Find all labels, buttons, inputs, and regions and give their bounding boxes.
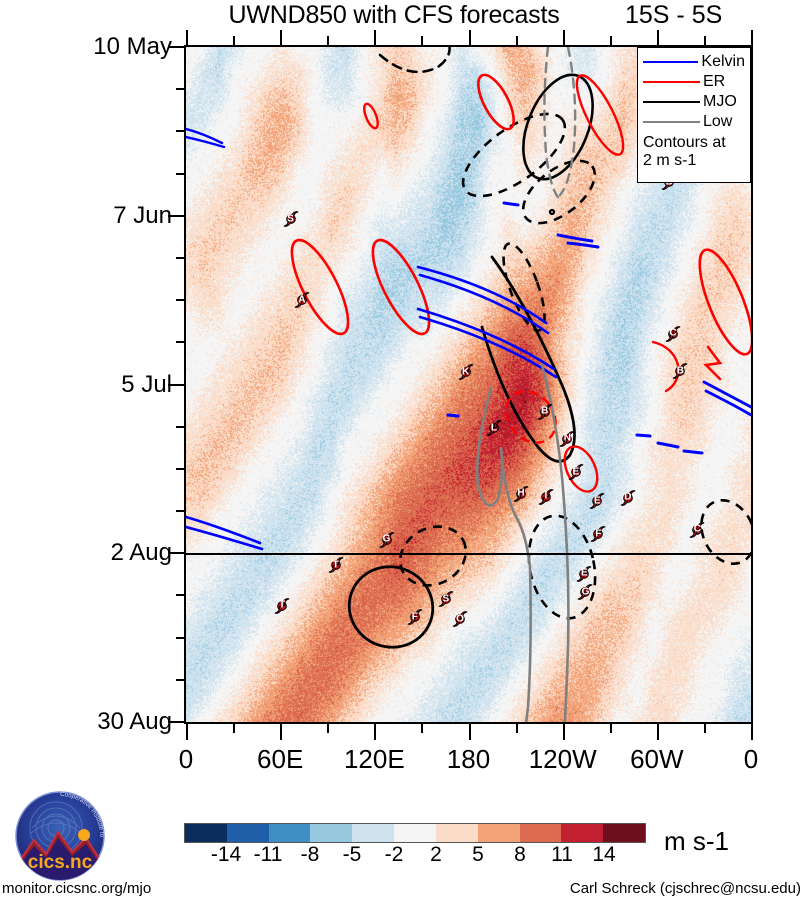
x-axis-major-tick bbox=[563, 30, 565, 45]
tropical-cyclone-marker[interactable]: A bbox=[292, 291, 311, 310]
x-axis-major-tick bbox=[657, 30, 659, 45]
wave-contour-path bbox=[706, 347, 720, 379]
tropical-cyclone-marker[interactable]: L bbox=[484, 419, 503, 438]
x-axis-ticks-top bbox=[184, 30, 753, 45]
wave-contour-ellipse bbox=[568, 70, 631, 160]
kelvin-line-icon bbox=[643, 61, 698, 63]
x-axis-minor-tick bbox=[610, 36, 612, 45]
y-axis-major-tick bbox=[168, 552, 185, 554]
legend-item-er: ER bbox=[643, 72, 745, 92]
tropical-cyclone-label: F bbox=[595, 529, 601, 539]
tropical-cyclone-label: A bbox=[298, 295, 305, 305]
wave-contour-ellipse bbox=[338, 555, 444, 659]
colorbar-swatch bbox=[185, 824, 227, 842]
tropical-cyclone-marker[interactable]: H bbox=[512, 484, 531, 503]
tropical-cyclone-label: D bbox=[624, 493, 631, 503]
tropical-cyclone-label: G bbox=[582, 587, 590, 597]
x-axis-major-tick bbox=[186, 30, 188, 45]
tropical-cyclone-marker[interactable]: F bbox=[589, 525, 608, 544]
tropical-cyclone-label: I bbox=[545, 492, 548, 502]
colorbar-swatch bbox=[310, 824, 352, 842]
mjo-line-icon bbox=[643, 101, 700, 103]
tropical-cyclone-marker[interactable]: G bbox=[377, 530, 396, 549]
logo-wordmark: cics.nc bbox=[28, 852, 93, 873]
wave-contour-path bbox=[568, 243, 598, 247]
x-axis-minor-tick bbox=[516, 724, 518, 733]
wave-contour-ellipse bbox=[512, 149, 605, 235]
tropical-cyclone-label: K bbox=[462, 367, 469, 377]
x-axis-major-tick bbox=[280, 724, 282, 740]
legend-label-kelvin: Kelvin bbox=[701, 54, 745, 70]
legend-item-low: Low bbox=[643, 112, 745, 132]
wave-contour-ellipse bbox=[362, 233, 440, 341]
tropical-cyclone-label: E bbox=[581, 569, 588, 579]
colorbar-tick-label: -5 bbox=[343, 843, 362, 867]
colorbar-tick-label: -8 bbox=[301, 843, 320, 867]
tropical-cyclone-marker[interactable]: K bbox=[456, 363, 475, 382]
tropical-cyclone-marker[interactable]: F bbox=[405, 608, 424, 627]
colorbar-tick-label: 2 bbox=[430, 843, 442, 867]
page-title: UWND850 with CFS forecasts bbox=[184, 1, 604, 30]
x-axis-tick-label: 120W bbox=[529, 744, 597, 775]
tropical-cyclone-label: C bbox=[694, 525, 701, 535]
x-axis-minor-tick bbox=[610, 724, 612, 733]
wave-contour-path bbox=[637, 435, 650, 436]
x-axis-tick-label: 0 bbox=[179, 744, 193, 775]
y-axis-major-tick bbox=[168, 721, 185, 723]
tropical-cyclone-label: T bbox=[279, 601, 285, 611]
legend-label-mjo: MJO bbox=[703, 94, 737, 110]
colorbar bbox=[184, 823, 646, 843]
legend-item-mjo: MJO bbox=[643, 92, 745, 112]
colorbar-swatch bbox=[394, 824, 436, 842]
colorbar-swatch bbox=[436, 824, 478, 842]
y-axis-ticks bbox=[0, 45, 185, 724]
x-axis-major-tick bbox=[751, 724, 753, 740]
colorbar-swatch bbox=[352, 824, 394, 842]
analysis-forecast-divider bbox=[186, 553, 751, 555]
tropical-cyclone-marker[interactable]: S bbox=[281, 210, 300, 229]
cics-nc-logo[interactable]: cics.nc Cooperative Institute for Climat… bbox=[12, 788, 108, 884]
wave-contour-path bbox=[420, 275, 548, 333]
x-axis-major-tick bbox=[469, 30, 471, 45]
low-line-icon bbox=[643, 121, 700, 123]
wave-contour-path bbox=[380, 47, 450, 72]
y-axis-major-tick bbox=[168, 215, 185, 217]
colorbar-swatch bbox=[520, 824, 562, 842]
x-axis-tick-label: 180 bbox=[447, 744, 490, 775]
x-axis-minor-tick bbox=[421, 36, 423, 45]
y-axis-major-tick bbox=[168, 384, 185, 386]
colorbar-units-label: m s-1 bbox=[664, 826, 729, 857]
x-axis-minor-tick bbox=[421, 724, 423, 733]
x-axis-major-tick bbox=[374, 30, 376, 45]
x-axis-major-tick bbox=[280, 30, 282, 45]
footer-url[interactable]: monitor.cicsnc.org/mjo bbox=[2, 880, 151, 897]
y-axis-major-tick bbox=[168, 46, 185, 48]
er-line-icon bbox=[643, 81, 700, 83]
tropical-cyclone-label: B bbox=[677, 366, 684, 376]
tropical-cyclone-marker[interactable]: S bbox=[436, 590, 455, 609]
tropical-cyclone-marker[interactable]: T bbox=[326, 556, 345, 575]
x-axis-major-tick bbox=[374, 724, 376, 740]
wave-contour-path bbox=[448, 415, 458, 416]
tropical-cyclone-label: N bbox=[564, 434, 571, 444]
tropical-cyclone-marker[interactable]: C bbox=[688, 520, 707, 539]
legend-note-line1: Contours at bbox=[643, 134, 745, 152]
colorbar-tick-label: 5 bbox=[472, 843, 484, 867]
x-axis-minor-tick bbox=[327, 724, 329, 733]
tropical-cyclone-label: C bbox=[669, 329, 676, 339]
colorbar-tick-label: 11 bbox=[551, 843, 573, 867]
x-axis-major-tick bbox=[186, 724, 188, 740]
x-axis-major-tick bbox=[657, 724, 659, 740]
x-axis-minor-tick bbox=[233, 724, 235, 733]
tropical-cyclone-label: O bbox=[456, 614, 464, 624]
x-axis-major-tick bbox=[751, 30, 753, 45]
legend-label-low: Low bbox=[703, 114, 732, 130]
tropical-cyclone-label: E bbox=[594, 496, 601, 506]
wave-contour-ellipse bbox=[471, 70, 520, 134]
colorbar-swatch bbox=[561, 824, 603, 842]
tropical-cyclone-label: F bbox=[412, 612, 418, 622]
colorbar-tick-label: 8 bbox=[514, 843, 526, 867]
tropical-cyclone-label: E bbox=[573, 467, 580, 477]
footer-credit: Carl Schreck (cjschrec@ncsu.edu) bbox=[570, 880, 801, 897]
x-axis-minor-tick bbox=[516, 36, 518, 45]
legend-box: Kelvin ER MJO Low Contours at 2 m s-1 bbox=[637, 47, 751, 183]
tropical-cyclone-label: S bbox=[287, 214, 294, 224]
colorbar-swatch bbox=[603, 824, 645, 842]
legend-label-er: ER bbox=[703, 74, 725, 90]
x-axis-major-tick bbox=[563, 724, 565, 740]
colorbar-swatch bbox=[269, 824, 311, 842]
tropical-cyclone-marker[interactable]: G bbox=[576, 583, 595, 602]
x-axis-minor-tick bbox=[233, 36, 235, 45]
x-axis-minor-tick bbox=[704, 724, 706, 733]
tropical-cyclone-marker[interactable]: E bbox=[566, 463, 585, 482]
tropical-cyclone-marker[interactable]: I bbox=[536, 487, 555, 506]
colorbar-tick-labels: -14-11-8-5-22581114 bbox=[184, 843, 646, 869]
wave-contour-path bbox=[558, 235, 592, 241]
tropical-cyclone-label: T bbox=[333, 560, 339, 570]
x-axis-tick-label: 60W bbox=[630, 744, 683, 775]
wave-contour-path bbox=[504, 203, 518, 205]
tropical-cyclone-marker[interactable]: C bbox=[664, 324, 683, 343]
region-label: 15S - 5S bbox=[625, 1, 722, 30]
colorbar-tick-label: -2 bbox=[385, 843, 404, 867]
tropical-cyclone-label: G bbox=[383, 535, 391, 545]
x-axis-tick-label: 60E bbox=[257, 744, 303, 775]
x-axis-ticks-bottom bbox=[184, 724, 753, 740]
legend-note-line2: 2 m s-1 bbox=[643, 152, 745, 170]
header: UWND850 with CFS forecasts 15S - 5S bbox=[0, 0, 809, 34]
tropical-cyclone-label: B bbox=[541, 407, 548, 417]
x-axis-minor-tick bbox=[327, 36, 329, 45]
tropical-cyclone-marker[interactable]: B bbox=[671, 362, 690, 381]
tropical-cyclone-marker[interactable]: E bbox=[588, 492, 607, 511]
tropical-cyclone-marker[interactable]: N bbox=[558, 429, 577, 448]
wave-contour-ellipse bbox=[281, 233, 359, 341]
x-axis-labels: 060E120E180120W60W0 bbox=[0, 744, 809, 778]
tropical-cyclone-label: H bbox=[517, 489, 524, 499]
wave-contour-ellipse bbox=[361, 102, 380, 130]
colorbar-tick-label: 14 bbox=[592, 843, 615, 867]
colorbar-swatch bbox=[227, 824, 269, 842]
x-axis-tick-label: 120E bbox=[344, 744, 405, 775]
wave-contour-ellipse bbox=[390, 515, 476, 596]
x-axis-tick-label: 0 bbox=[744, 744, 758, 775]
wave-contour-path bbox=[658, 443, 678, 447]
x-axis-minor-tick bbox=[704, 36, 706, 45]
colorbar-tick-label: -11 bbox=[254, 843, 283, 867]
tropical-cyclone-label: S bbox=[443, 594, 450, 604]
tropical-cyclone-marker[interactable]: B bbox=[535, 402, 554, 421]
legend-contour-note: Contours at 2 m s-1 bbox=[643, 134, 745, 170]
tropical-cyclone-label: L bbox=[491, 423, 497, 433]
wave-contour-ellipse bbox=[689, 244, 751, 361]
tropical-cyclone-marker[interactable]: O bbox=[451, 610, 470, 629]
colorbar-swatch bbox=[478, 824, 520, 842]
colorbar-tick-label: -14 bbox=[211, 843, 241, 867]
tropical-cyclone-marker[interactable]: D bbox=[618, 488, 637, 507]
x-axis-major-tick bbox=[469, 724, 471, 740]
legend-item-kelvin: Kelvin bbox=[643, 52, 745, 72]
wave-contour-ellipse bbox=[550, 210, 554, 214]
tropical-cyclone-marker[interactable]: E bbox=[575, 564, 594, 583]
wave-contour-path bbox=[684, 451, 702, 453]
tropical-cyclone-marker[interactable]: T bbox=[273, 596, 292, 615]
